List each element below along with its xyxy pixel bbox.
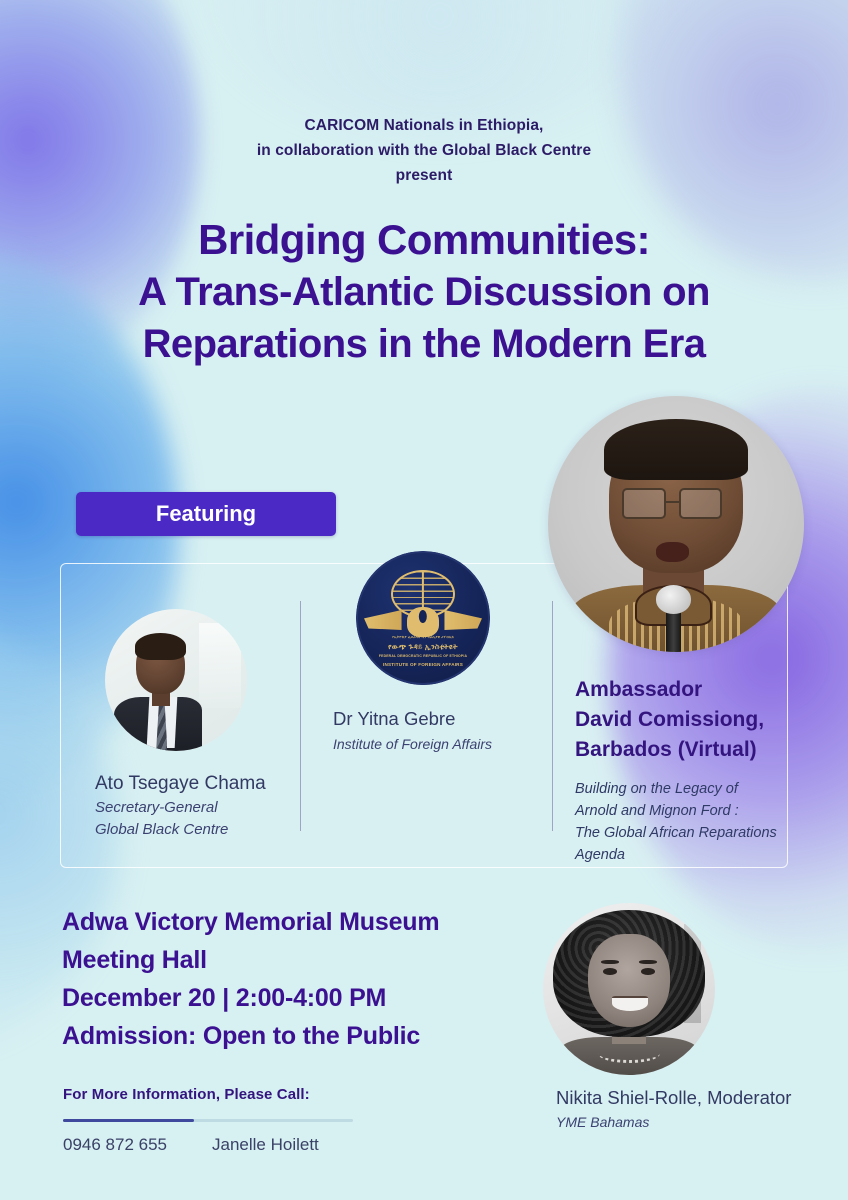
title-line-2: A Trans-Atlantic Discussion on [0,266,848,318]
speaker-name-ambassador: Ambassador David Comissiong, Barbados (V… [575,675,805,765]
logo-institute-of-foreign-affairs: የኢትዮጵያ ፌደራላዊ ዲሞክራሲያዊ ሪፐብሊክ የውጭ ጉዳይ ኢንስቲት… [356,551,490,685]
wing-right-icon [444,610,482,630]
venue-date-time: December 20 | 2:00-4:00 PM [62,979,439,1017]
ambassador-country-line: Barbados (Virtual) [575,735,805,765]
event-poster: CARICOM Nationals in Ethiopia, in collab… [0,0,848,1200]
talk-line-2: Arnold and Mignon Ford : [575,800,797,822]
speaker-name-chama: Ato Tsegaye Chama [95,773,266,795]
presenter-line-3: present [0,163,848,188]
venue-line-2: Meeting Hall [62,941,439,979]
portrait-illustration [105,609,247,751]
portrait-illustration [548,396,804,652]
portrait-illustration [543,903,715,1075]
ambassador-name-line: David Comissiong, [575,705,805,735]
logo-text-amharic-top: የኢትዮጵያ ፌደራላዊ ዲሞክራሲያዊ ሪፐብሊክ [367,635,480,639]
venue-details: Adwa Victory Memorial Museum Meeting Hal… [62,903,439,1055]
talk-line-4: Agenda [575,844,797,866]
talk-line-1: Building on the Legacy of [575,778,797,800]
speaker-org-line: Global Black Centre [95,819,228,841]
featuring-badge: Featuring [76,492,336,536]
logo-text-amharic-main: የውጭ ጉዳይ ኢንስቲትዩት [367,642,480,652]
presenter-header: CARICOM Nationals in Ethiopia, in collab… [0,113,848,188]
title-line-3: Reparations in the Modern Era [0,318,848,370]
speaker-role-yitna: Institute of Foreign Affairs [333,733,492,755]
contact-divider [63,1119,353,1122]
logo-text-amharic-sub: FEDERAL DEMOCRATIC REPUBLIC OF ETHIOPIA [367,654,480,658]
ambassador-talk-title: Building on the Legacy of Arnold and Mig… [575,778,797,866]
contact-heading: For More Information, Please Call: [63,1086,310,1103]
presenter-line-1: CARICOM Nationals in Ethiopia, [0,113,848,138]
moderator-name: Nikita Shiel-Rolle, Moderator [556,1087,791,1109]
background-gradient-top [180,0,700,130]
page-title: Bridging Communities: A Trans-Atlantic D… [0,214,848,370]
avatar-ato-tsegaye-chama [105,609,247,751]
venue-admission: Admission: Open to the Public [62,1017,439,1055]
contact-phone-number: 0946 872 655 [63,1135,167,1155]
wing-left-icon [364,610,402,630]
moderator-organization: YME Bahamas [556,1111,649,1133]
contact-person-name: Janelle Hoilett [212,1135,319,1155]
avatar-nikita-shiel-rolle [543,903,715,1075]
talk-line-3: The Global African Reparations [575,822,797,844]
speaker-role-line: Secretary-General [95,797,228,819]
speaker-divider-1 [300,601,301,831]
speaker-name-yitna: Dr Yitna Gebre [333,708,455,730]
speaker-role-chama: Secretary-General Global Black Centre [95,797,228,841]
title-line-1: Bridging Communities: [0,214,848,266]
presenter-line-2: in collaboration with the Global Black C… [0,138,848,163]
ambassador-title-line: Ambassador [575,675,805,705]
ifa-emblem-icon: የኢትዮጵያ ፌደራላዊ ዲሞክራሲያዊ ሪፐብሊክ የውጭ ጉዳይ ኢንስቲት… [356,551,490,685]
venue-line-1: Adwa Victory Memorial Museum [62,903,439,941]
eagle-icon [407,607,439,636]
logo-text-english: INSTITUTE OF FOREIGN AFFAIRS [367,662,480,667]
avatar-ambassador-david-comissiong [548,396,804,652]
